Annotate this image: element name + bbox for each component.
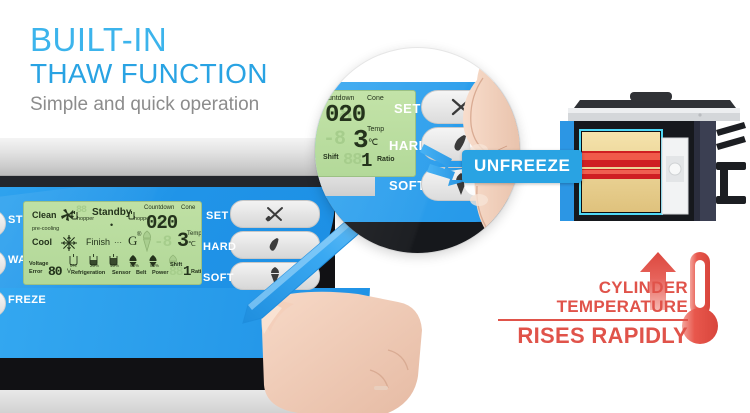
lcd-power-label: Power — [152, 270, 169, 276]
mag-temp-unit: ℃ — [368, 137, 378, 148]
lcd-ratio-value: 1 — [183, 264, 190, 280]
soft-serve-icon-small — [140, 230, 154, 252]
headline-line-3: Simple and quick operation — [30, 92, 268, 118]
lcd-display: Clean hopper Standby • 88 hopper — [23, 201, 202, 285]
lcd-clean-label: Clean — [32, 210, 57, 220]
cylinder-temperature-callout: CYLINDER TEMPERATURE RISES RAPIDLY — [498, 278, 688, 349]
lcd-ratio-ghost: 88 — [169, 264, 183, 279]
mag-countdown-label: Countdown — [319, 95, 354, 102]
unfreeze-badge: UNFREEZE — [462, 150, 582, 183]
set-button[interactable] — [230, 200, 320, 228]
freze-button[interactable]: FREZE — [0, 288, 50, 320]
lcd-pct-65: 65% — [130, 263, 139, 268]
machine-cutaway-svg — [560, 78, 750, 228]
callout-divider — [498, 319, 688, 321]
lcd-precooling-label: pre-cooling — [32, 226, 59, 232]
hard-button-label: HARD — [203, 241, 236, 253]
lcd-refrigeration-label: Refrigeration — [71, 270, 105, 276]
tools-icon — [265, 206, 285, 222]
lcd-finish-dots: ··· — [114, 238, 122, 247]
callout-line-3: RISES RAPIDLY — [498, 323, 688, 349]
lcd-belt-label: Belt — [136, 270, 146, 276]
freze-button-label: FREZE — [8, 294, 46, 306]
lcd-status-text: Standby — [92, 207, 131, 218]
lcd-error-label: Error — [29, 269, 42, 275]
freze-button-pill — [0, 290, 6, 317]
soft-cone-icon — [267, 266, 283, 286]
wash-button-pill — [0, 250, 6, 277]
lcd-pct-40: 40% — [110, 263, 119, 268]
mag-temp-label: Temp — [367, 126, 384, 133]
lcd-temp-ghost: -8 — [154, 233, 171, 251]
hand-pressing-soft-button — [238, 290, 428, 413]
machine-dark-bar — [0, 176, 335, 187]
lcd-ghost-seg-a: 88 — [76, 205, 86, 216]
hard-button[interactable] — [230, 231, 320, 259]
lcd-temp-label: Temp — [187, 231, 202, 237]
mag-ratio-ghost: 88 — [343, 151, 361, 170]
lcd-cone-label: Cone — [181, 205, 195, 211]
lcd-voltage-value: 80 — [48, 264, 62, 279]
machine-silver-top — [0, 138, 335, 176]
mag-ratio-value: 1 — [361, 150, 371, 172]
lcd-pct-20: 20% — [90, 263, 99, 268]
callout-line-1: CYLINDER — [498, 278, 688, 297]
headline-block: BUILT-IN THAW FUNCTION Simple and quick … — [30, 22, 268, 118]
callout-line-2: TEMPERATURE — [498, 297, 688, 316]
lcd-countdown-label: Countdown — [144, 205, 174, 211]
lcd-g-mark: G — [128, 233, 137, 249]
lcd-ratio-label: Ratio — [191, 269, 202, 275]
set-button-label: SET — [206, 210, 229, 222]
lcd-cool-label: Cool — [32, 237, 52, 247]
lcd-temp-unit: ℃ — [188, 240, 196, 248]
lcd-sensor-label: Sensor — [112, 270, 131, 276]
lcd-center-dot: • — [110, 220, 113, 230]
hard-cone-icon — [266, 236, 284, 254]
soft-button[interactable] — [230, 262, 320, 290]
lcd-finish-label: Finish — [86, 237, 110, 247]
headline-line-2: THAW FUNCTION — [30, 58, 268, 90]
machine-cutaway-illustration — [560, 78, 750, 228]
mag-shift-label: Shift — [323, 154, 339, 161]
soft-button-label: SOFT — [203, 272, 234, 284]
lcd-pct-85: 85% — [150, 263, 159, 268]
mag-ratio-label: Ratio — [377, 156, 395, 163]
lcd-voltage-label: Voltage — [29, 261, 48, 267]
lcd-pct-0: 0% — [70, 263, 77, 268]
mag-cone-label: Cone — [367, 95, 384, 102]
headline-line-1: BUILT-IN — [30, 22, 268, 58]
snowflake-icon — [60, 234, 78, 252]
mag-set-label: SET — [394, 101, 421, 116]
mag-temp-ghost: -8 — [323, 128, 345, 151]
poster-stage: BUILT-IN THAW FUNCTION Simple and quick … — [0, 0, 750, 413]
stop-button-pill — [0, 210, 6, 237]
